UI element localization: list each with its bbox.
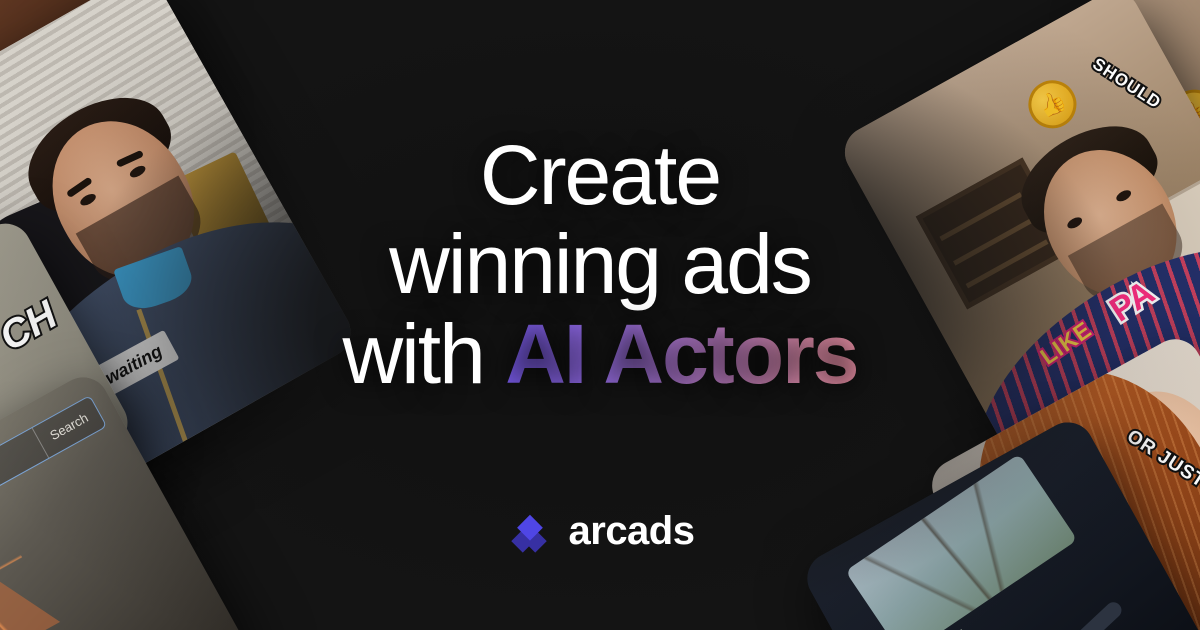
arcads-diamond-logo-icon	[506, 509, 552, 555]
brand-wordmark: arcads	[569, 509, 695, 554]
tower-lines	[0, 518, 58, 630]
headline-line-3: with AI Actors	[342, 310, 857, 399]
page-title: Create winning ads with AI Actors	[342, 131, 857, 398]
headline-line-2: winning ads	[342, 220, 857, 309]
crunch-text: CH	[0, 293, 65, 361]
brand-lockup[interactable]: arcads	[506, 509, 695, 555]
search-bar[interactable]: duolingo being iconic Search	[0, 395, 107, 559]
headline-accent: AI Actors	[505, 307, 857, 401]
headline-line-3-prefix: with	[342, 307, 505, 401]
headline-line-1: Create	[342, 131, 857, 220]
search-button[interactable]: Search	[32, 396, 106, 458]
og-image-canvas: 548 ers you waiting CH	[0, 0, 1200, 630]
